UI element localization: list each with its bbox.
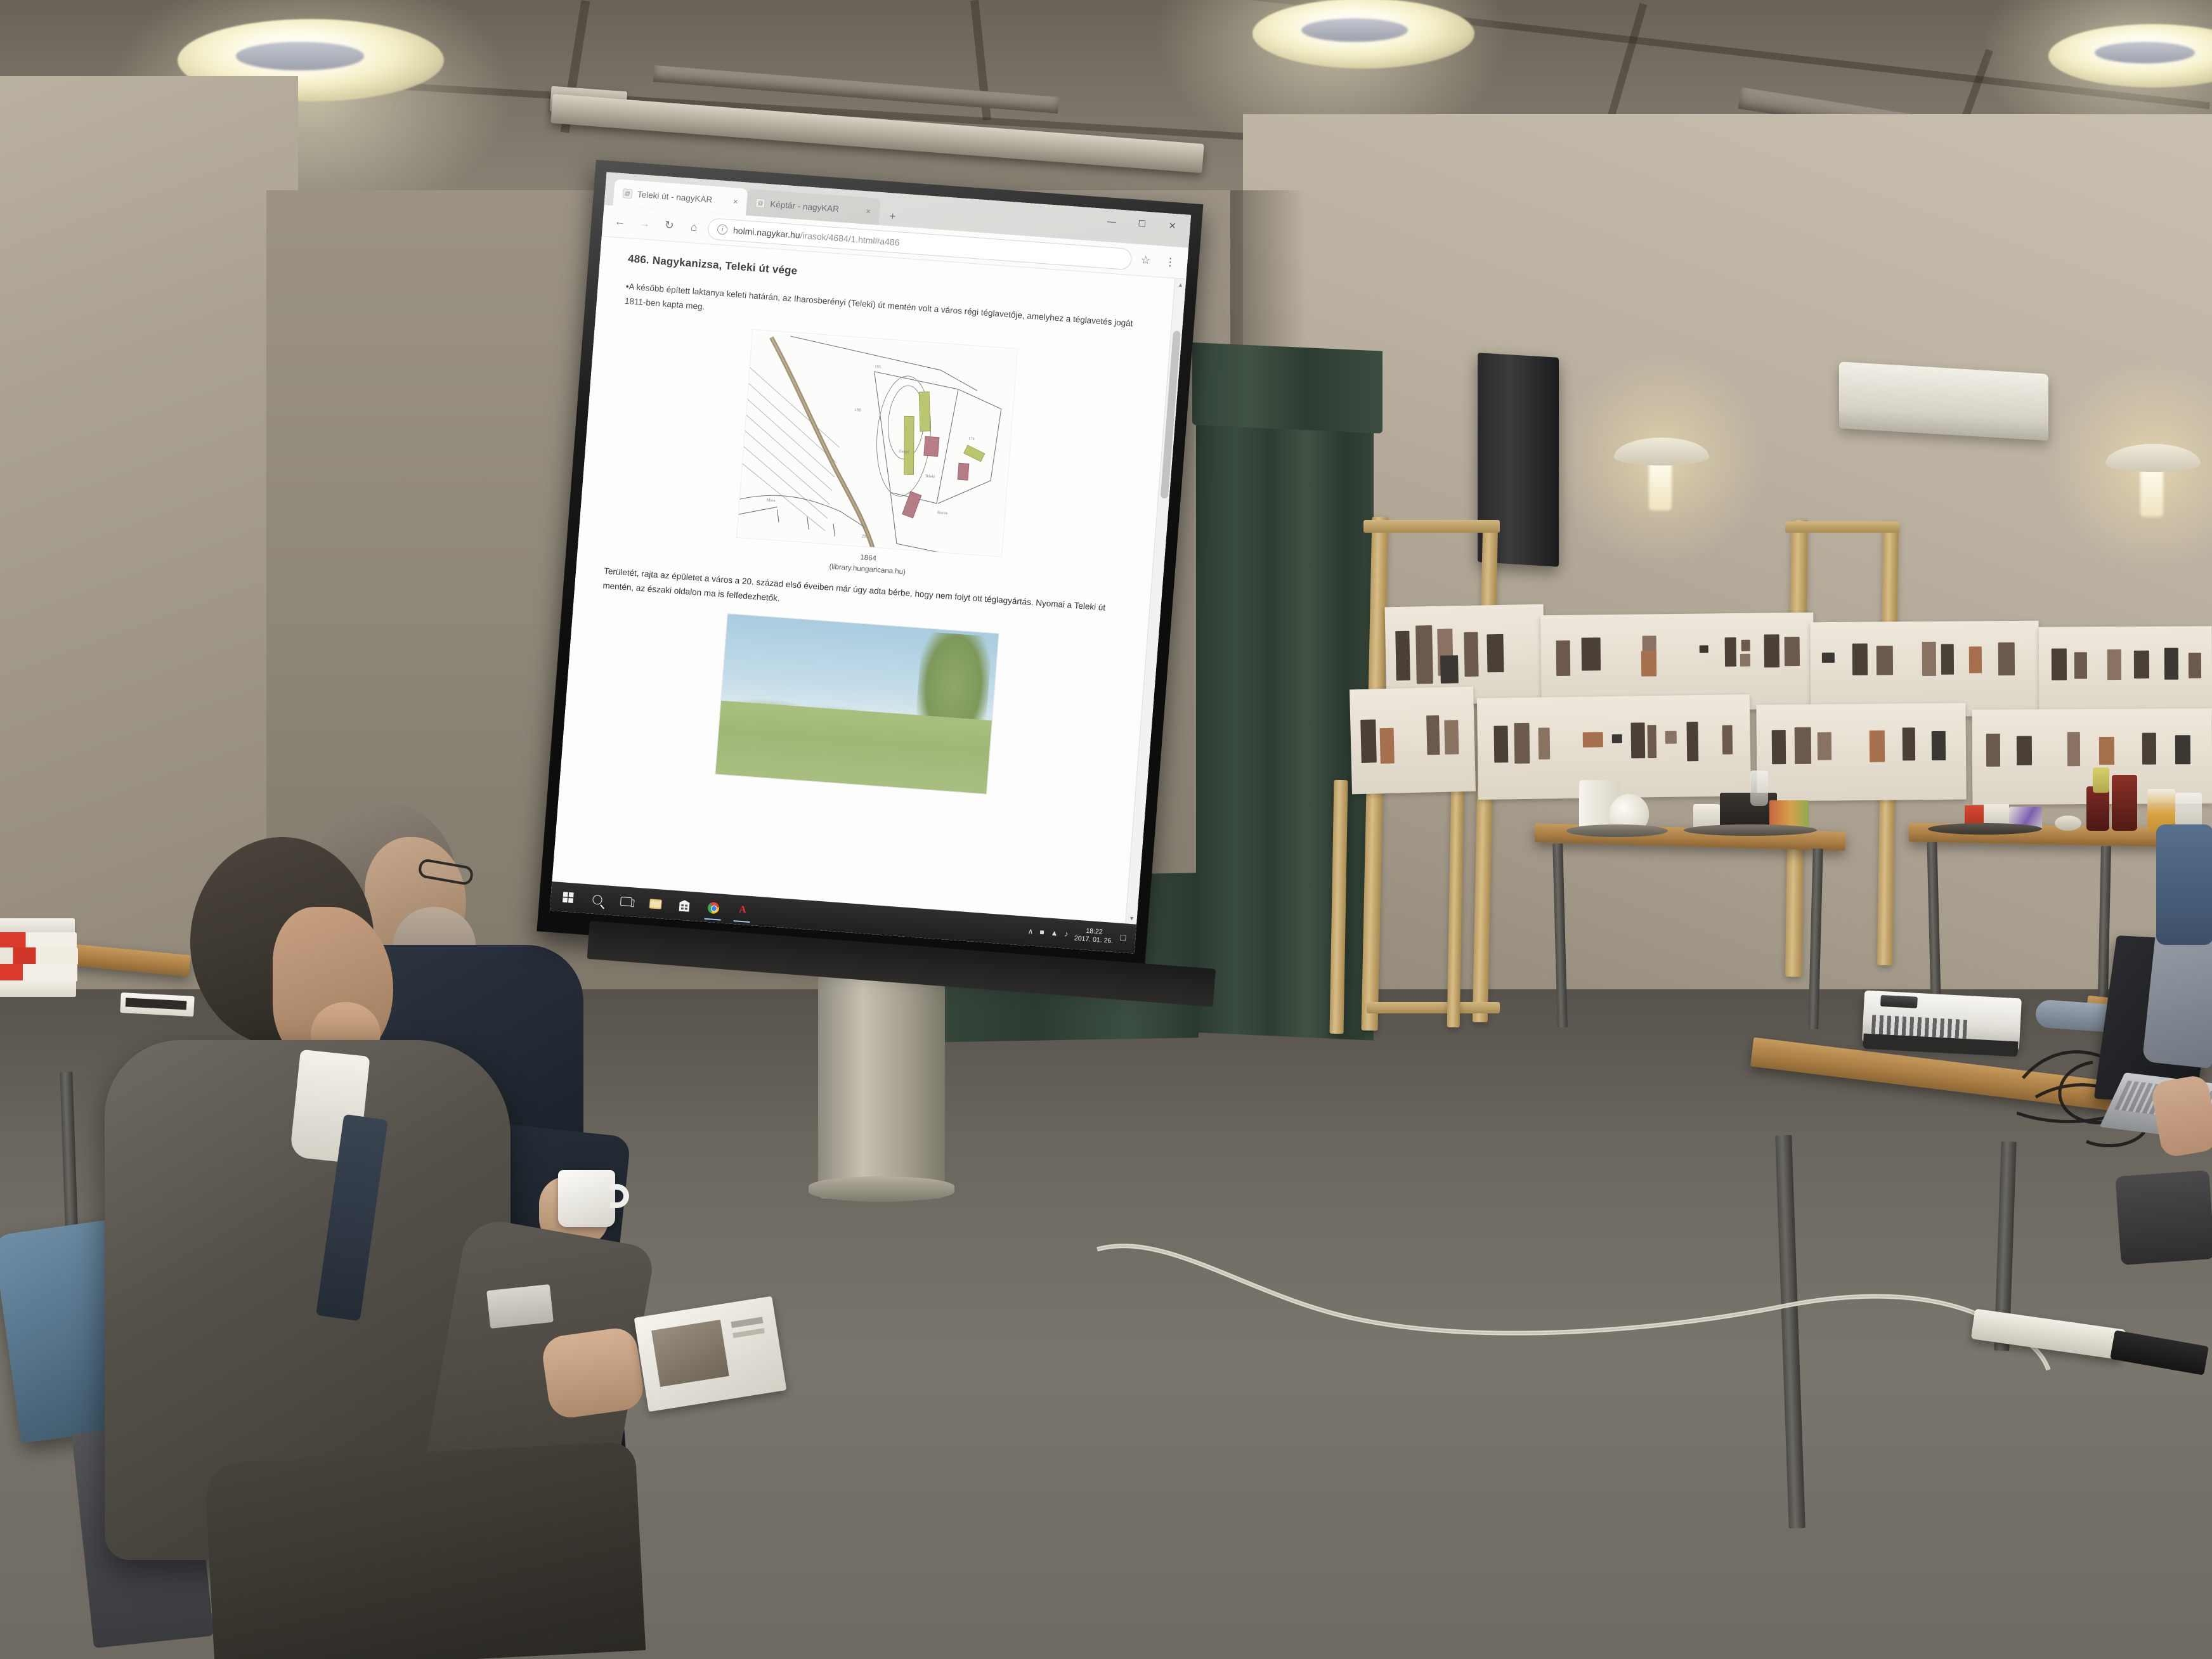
wall-right bbox=[1243, 114, 2212, 1065]
book-stack-item bbox=[0, 980, 76, 997]
window-controls: — ☐ ✕ bbox=[1097, 211, 1187, 236]
screen-pole-base bbox=[809, 1176, 954, 1202]
tab-close-icon[interactable]: × bbox=[732, 197, 738, 207]
chrome-menu-icon[interactable]: ⋮ bbox=[1159, 250, 1182, 273]
conference-room-scene: @ Teleki út - nagyKAR × @ Képtár - nagyK… bbox=[0, 0, 2212, 1659]
figure-map: 195188 ZiegelTeleki 174Iharos 201Mura bbox=[605, 320, 1147, 594]
svg-text:Mura: Mura bbox=[766, 498, 776, 504]
battery-icon[interactable]: ■ bbox=[1039, 928, 1044, 937]
new-tab-button[interactable]: + bbox=[882, 206, 902, 226]
serving-tray bbox=[1684, 824, 1817, 836]
book-stack-item bbox=[0, 947, 78, 965]
page-content: 486. Nagykanizsa, Teleki út vége •A késő… bbox=[552, 237, 1174, 923]
wine-bottle bbox=[2112, 775, 2137, 831]
booklet-on-table bbox=[120, 992, 195, 1017]
map-svg: 195188 ZiegelTeleki 174Iharos 201Mura bbox=[737, 330, 1018, 557]
svg-text:Ziegel: Ziegel bbox=[899, 450, 909, 455]
presenter-chair bbox=[2115, 1170, 2212, 1265]
serving-tray bbox=[1928, 823, 2042, 835]
tab-close-icon[interactable]: × bbox=[866, 206, 871, 216]
page-viewport: 486. Nagykanizsa, Teleki út vége •A késő… bbox=[552, 237, 1186, 925]
url-host: holmi.nagykar.hu bbox=[733, 225, 801, 240]
show-hidden-icons[interactable]: ∧ bbox=[1027, 927, 1034, 936]
scroll-down-arrow[interactable]: ▼ bbox=[1126, 912, 1138, 924]
minimize-button[interactable]: — bbox=[1097, 211, 1126, 231]
tab-favicon-icon: @ bbox=[755, 198, 765, 208]
svg-text:195: 195 bbox=[875, 365, 881, 370]
task-view-icon[interactable] bbox=[612, 887, 641, 916]
water-bottle bbox=[1750, 771, 1768, 806]
network-icon[interactable]: ▲ bbox=[1050, 928, 1058, 938]
exhibition-board bbox=[1350, 687, 1476, 795]
windows-start-icon[interactable] bbox=[554, 883, 582, 911]
system-tray: ∧ ■ ▲ ♪ 18:22 2017. 01. 26. ☐ bbox=[1027, 923, 1133, 947]
projection-screen: @ Teleki út - nagyKAR × @ Képtár - nagyK… bbox=[537, 160, 1203, 976]
book-stack-item bbox=[0, 932, 77, 949]
svg-text:174: 174 bbox=[968, 437, 975, 442]
attendee-front-hand bbox=[540, 1325, 646, 1421]
curtain-valance bbox=[1192, 342, 1382, 434]
exhibition-board bbox=[2039, 626, 2212, 720]
notification-icon[interactable]: ☐ bbox=[1119, 934, 1127, 943]
close-button[interactable]: ✕ bbox=[1158, 215, 1187, 236]
google-chrome-icon[interactable] bbox=[699, 894, 727, 922]
wine-bottle bbox=[2086, 786, 2109, 831]
taskbar-clock[interactable]: 18:22 2017. 01. 26. bbox=[1074, 926, 1114, 946]
tab-favicon-icon: @ bbox=[623, 188, 633, 198]
adobe-reader-icon[interactable]: A bbox=[728, 896, 757, 925]
address-bar-url: holmi.nagykar.hu/irasok/4684/1.html#a486 bbox=[733, 225, 901, 247]
landscape-photo bbox=[715, 613, 999, 795]
back-icon[interactable]: ← bbox=[608, 210, 632, 233]
svg-text:Iharos: Iharos bbox=[937, 511, 948, 516]
window-curtain bbox=[1196, 348, 1374, 1041]
tab-title: Képtár - nagyKAR bbox=[770, 199, 861, 215]
scroll-up-arrow[interactable]: ▲ bbox=[1174, 278, 1186, 290]
volume-icon[interactable]: ♪ bbox=[1064, 929, 1069, 938]
sconce-tube bbox=[2140, 466, 2163, 517]
exhibition-rack-rail bbox=[1363, 520, 1500, 533]
attendee-back-mug bbox=[558, 1170, 615, 1227]
microsoft-store-icon[interactable] bbox=[670, 892, 699, 920]
juice-bottle bbox=[2093, 767, 2109, 793]
exhibition-rack-rail bbox=[1785, 521, 1899, 533]
ceiling-downlight bbox=[1252, 0, 1474, 68]
forward-icon[interactable]: → bbox=[633, 212, 656, 235]
attendee-front-watch bbox=[486, 1284, 554, 1329]
svg-text:201: 201 bbox=[861, 535, 868, 540]
figure-photo bbox=[589, 604, 1125, 806]
search-icon[interactable] bbox=[583, 885, 611, 914]
svg-text:Teleki: Teleki bbox=[925, 474, 935, 479]
projection-screen-surface: @ Teleki út - nagyKAR × @ Képtár - nagyK… bbox=[550, 172, 1191, 953]
tab-title: Teleki út - nagyKAR bbox=[637, 189, 728, 205]
chrome-browser-window: @ Teleki út - nagyKAR × @ Képtár - nagyK… bbox=[550, 172, 1191, 953]
url-path: /irasok/4684/1.html#a486 bbox=[800, 230, 900, 247]
maximize-button[interactable]: ☐ bbox=[1128, 213, 1157, 234]
svg-text:188: 188 bbox=[855, 408, 861, 413]
attendee-front-legs bbox=[204, 1441, 646, 1659]
bookmark-star-icon[interactable]: ☆ bbox=[1134, 249, 1157, 271]
sconce-tube bbox=[1649, 460, 1672, 511]
plate bbox=[2055, 816, 2081, 831]
map-image: 195188 ZiegelTeleki 174Iharos 201Mura bbox=[736, 329, 1018, 557]
site-info-icon[interactable]: i bbox=[717, 224, 728, 235]
exhibition-rack-rail bbox=[1367, 1002, 1500, 1013]
book-stack-item bbox=[0, 964, 77, 982]
file-explorer-icon[interactable] bbox=[641, 889, 670, 918]
serving-tray bbox=[1566, 824, 1668, 837]
reload-icon[interactable]: ↻ bbox=[658, 214, 681, 237]
air-conditioner-unit bbox=[1839, 361, 2048, 441]
home-icon[interactable]: ⌂ bbox=[682, 216, 706, 238]
presenter-torso bbox=[2156, 824, 2212, 945]
exhibition-board bbox=[1756, 703, 1966, 802]
